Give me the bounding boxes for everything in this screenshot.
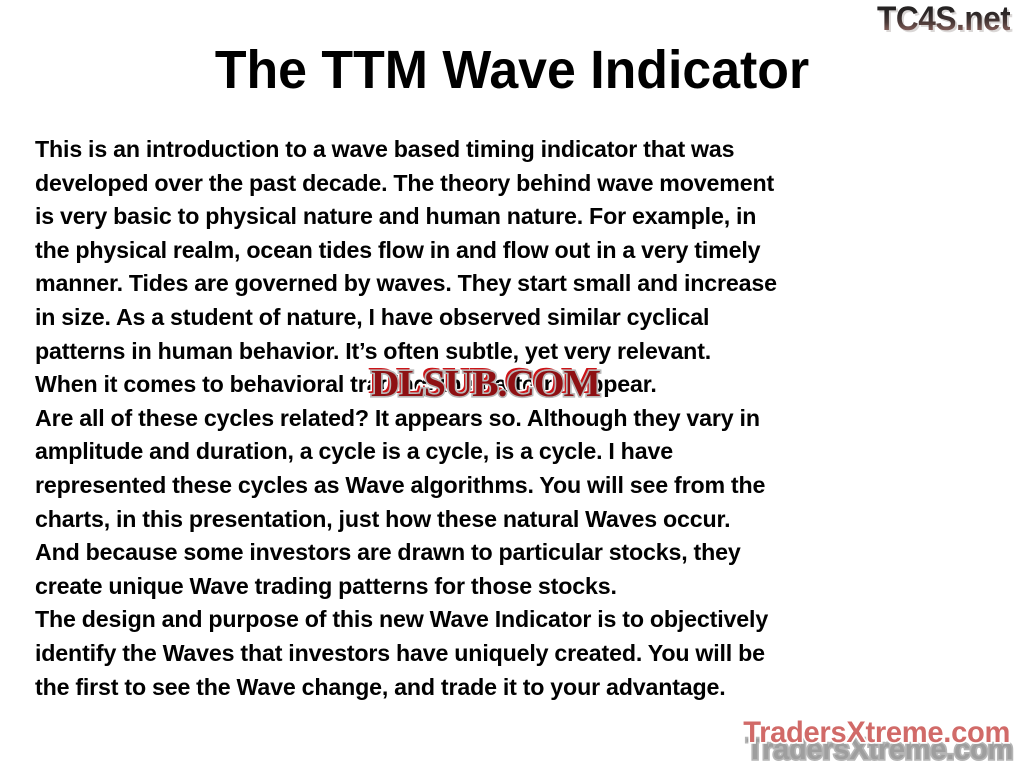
slide-canvas: TC4S.net TC4S.net The TTM Wave Indicator… xyxy=(0,0,1024,768)
body-line: manner. Tides are governed by waves. The… xyxy=(35,267,1005,301)
body-line: the first to see the Wave change, and tr… xyxy=(35,671,1005,705)
body-line: And because some investors are drawn to … xyxy=(35,536,1005,570)
dlsub-watermark-shadow: DLSUB.COM xyxy=(371,365,600,403)
body-line: create unique Wave trading patterns for … xyxy=(35,570,1005,604)
tradersxtreme-footer-logo: TradersXtreme.com xyxy=(743,718,1010,748)
body-line: Are all of these cycles related? It appe… xyxy=(35,402,1005,436)
body-line: The design and purpose of this new Wave … xyxy=(35,603,1005,637)
body-line: identify the Waves that investors have u… xyxy=(35,637,1005,671)
body-line: developed over the past decade. The theo… xyxy=(35,167,1005,201)
body-line: amplitude and duration, a cycle is a cyc… xyxy=(35,435,1005,469)
body-line: is very basic to physical nature and hum… xyxy=(35,200,1005,234)
body-line: the physical realm, ocean tides flow in … xyxy=(35,234,1005,268)
body-line: This is an introduction to a wave based … xyxy=(35,133,1005,167)
tc4s-brand-logo: TC4S.net xyxy=(877,2,1010,36)
body-copy: This is an introduction to a wave based … xyxy=(35,133,1005,704)
page-title: The TTM Wave Indicator xyxy=(20,42,1003,99)
footer-logo-wrapper: TradersXtreme.com TradersXtreme.com xyxy=(735,718,1010,762)
body-line: represented these cycles as Wave algorit… xyxy=(35,469,1005,503)
body-line: charts, in this presentation, just how t… xyxy=(35,503,1005,537)
body-line: in size. As a student of nature, I have … xyxy=(35,301,1005,335)
